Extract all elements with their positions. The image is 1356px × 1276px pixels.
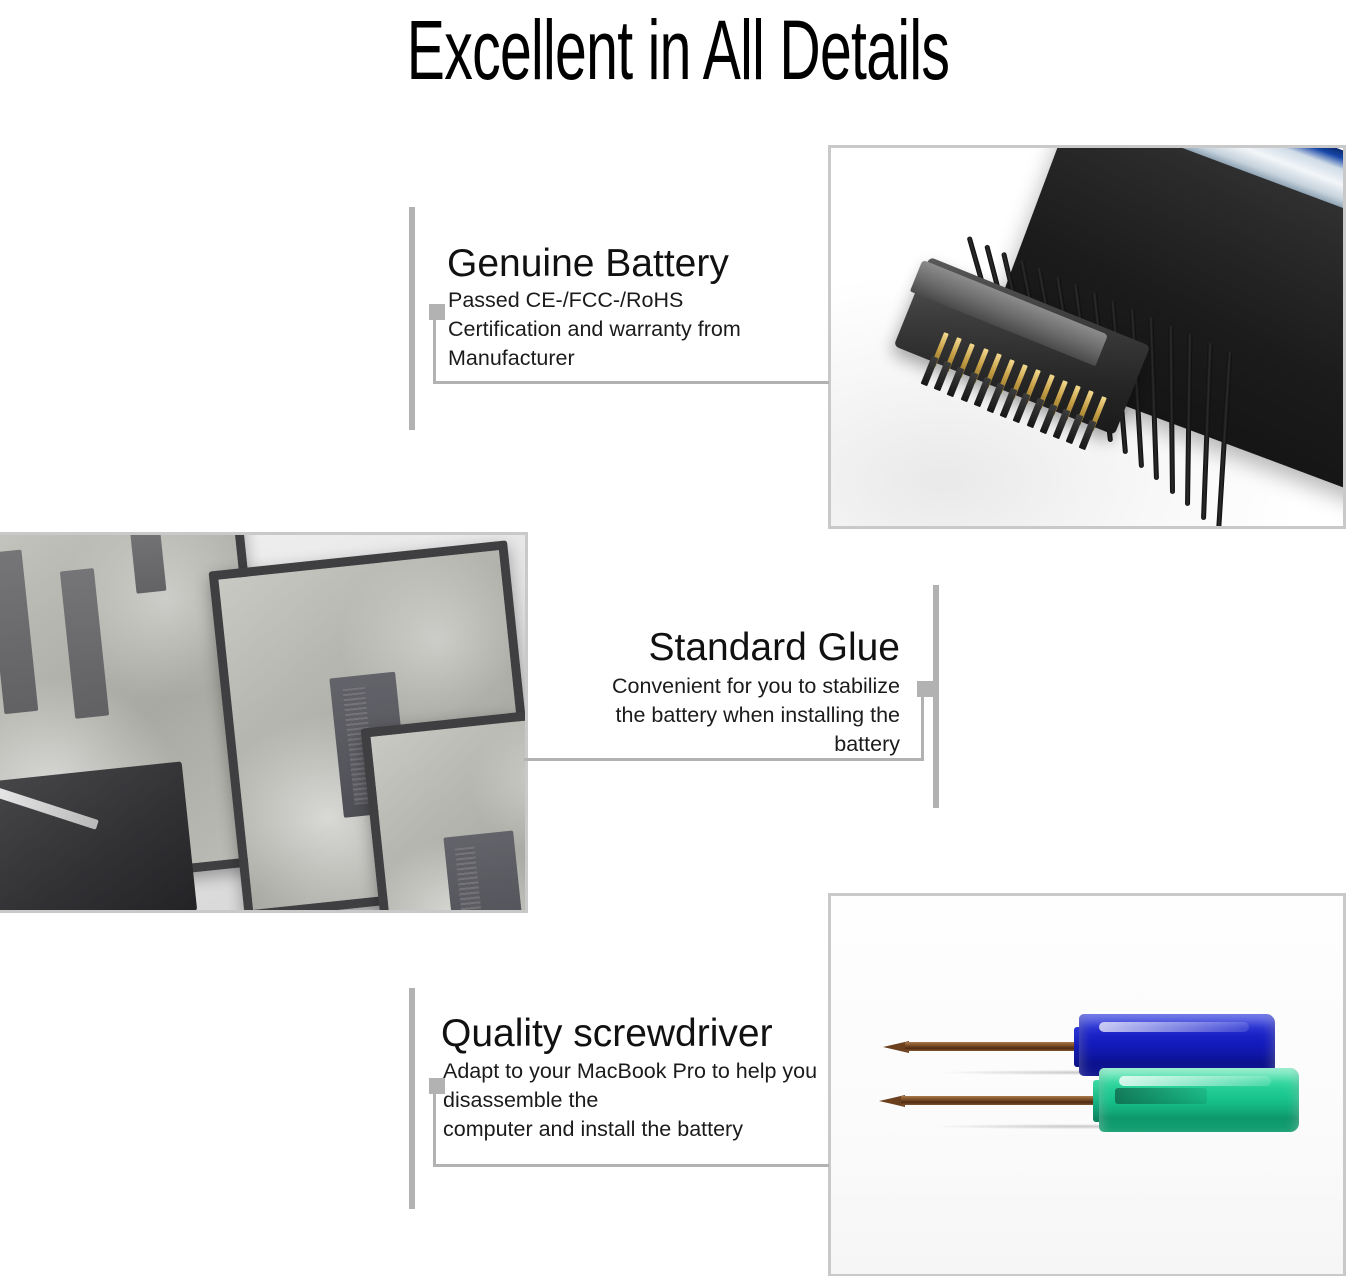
callout-lead-vertical-genuine-battery: [433, 320, 436, 384]
callout-lead-vertical-standard-glue: [921, 697, 924, 761]
infographic-page: Excellent in All Details: [0, 0, 1356, 1276]
callout-body-genuine-battery: Passed CE-/FCC-/RoHS Certification and w…: [448, 286, 778, 373]
callout-body-line: Convenient for you to stabilize: [570, 672, 900, 701]
callout-title-quality-screwdriver: Quality screwdriver: [441, 1011, 773, 1057]
battery-frame-edge: [0, 761, 197, 910]
callout-accent-bar-standard-glue: [933, 585, 939, 808]
callout-body-line: the battery when installing the: [570, 701, 900, 730]
callout-title-genuine-battery: Genuine Battery: [447, 241, 729, 287]
glue-strip: [129, 535, 166, 594]
callout-marker-standard-glue: [917, 681, 933, 697]
callout-lead-horizontal-genuine-battery: [433, 381, 829, 384]
callout-body-line: computer and install the battery: [443, 1115, 843, 1144]
glue-strip: [0, 550, 38, 715]
glue-strip: [60, 568, 109, 719]
callout-accent-bar-quality-screwdriver: [409, 988, 415, 1209]
callout-body-line: disassemble the: [443, 1086, 843, 1115]
screwdriver-shaft-green: [901, 1096, 1101, 1105]
battery-connector-photo: [828, 145, 1346, 529]
callout-marker-genuine-battery: [429, 304, 445, 320]
callout-title-standard-glue: Standard Glue: [580, 625, 900, 671]
callout-lead-horizontal-quality-screwdriver: [433, 1164, 829, 1167]
callout-body-line: Adapt to your MacBook Pro to help you: [443, 1057, 843, 1086]
callout-lead-vertical-quality-screwdriver: [433, 1094, 436, 1166]
battery-cells-image: [0, 535, 525, 910]
page-title: Excellent in All Details: [217, 2, 1139, 98]
callout-accent-bar-genuine-battery: [409, 207, 415, 430]
screwdriver-handle-green-highlight: [1119, 1076, 1271, 1086]
screwdrivers-image: [831, 896, 1343, 1274]
callout-body-line: battery: [570, 730, 900, 759]
callout-body-standard-glue: Convenient for you to stabilize the batt…: [570, 672, 900, 759]
callout-body-quality-screwdriver: Adapt to your MacBook Pro to help you di…: [443, 1057, 843, 1144]
battery-cell: [361, 703, 525, 910]
screwdriver-handle-green-core: [1115, 1088, 1207, 1104]
screwdrivers-photo: [828, 893, 1346, 1276]
battery-connector-image: [831, 148, 1343, 526]
battery-cells-photo: [0, 532, 528, 913]
callout-body-line: Manufacturer: [448, 344, 778, 373]
callout-body-line: Certification and warranty from: [448, 315, 778, 344]
screwdriver-handle-blue-highlight: [1099, 1022, 1249, 1032]
screwdriver-shaft-blue: [905, 1042, 1083, 1051]
ribbon-wire: [1168, 325, 1175, 493]
callout-body-line: Passed CE-/FCC-/RoHS: [448, 286, 778, 315]
glue-strip: [443, 830, 525, 910]
